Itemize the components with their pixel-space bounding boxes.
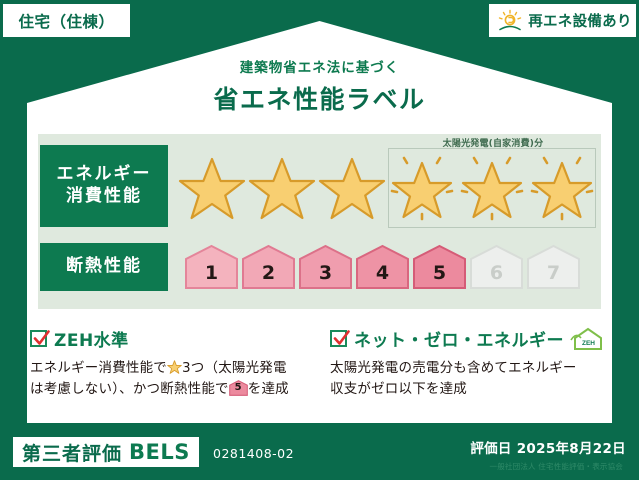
insulation-badge-value: 1 [184, 262, 239, 284]
insulation-badge-value: 6 [469, 262, 524, 284]
checkbox-checked-icon [30, 330, 47, 347]
star-rating [178, 151, 596, 221]
net-zero-criterion-title: ネット・ゼロ・エネルギー [354, 326, 564, 351]
zeh-body-text-d: を達成 [248, 381, 289, 397]
zeh-criterion-header: ZEH水準 [30, 326, 325, 351]
performance-panel: 太陽光発電(自家消費)分 エネルギー 消費性能 [38, 134, 601, 309]
insulation-badge: 3 [298, 244, 353, 290]
title-main: 省エネ性能ラベル [0, 80, 639, 116]
insulation-badge-value: 2 [241, 262, 296, 284]
insulation-badge-inline: 5 [229, 380, 248, 396]
star-icon-inline [167, 359, 182, 374]
energy-label-line-1: エネルギー [57, 164, 152, 186]
issuing-organization: 一般社団法人 住宅性能評価・表示協会 [490, 461, 623, 472]
building-type-tag-label: 住宅（住棟） [18, 10, 114, 32]
renewable-equipment-tag: 再エネ設備あり [489, 4, 636, 37]
label-title: 建築物省エネ法に基づく 省エネ性能ラベル [0, 56, 639, 116]
third-party-label: 第三者評価 [22, 439, 122, 466]
certificate-number: 0281408-02 [213, 446, 294, 461]
label-footer: 第三者評価 BELS 0281408-02 評価日 2025年8月22日 一般社… [0, 424, 639, 480]
zeh-body-text-b: 3つ（太陽光発電 [182, 360, 287, 376]
star-shining-icon [528, 151, 596, 221]
evaluation-date-value: 2025年8月22日 [517, 441, 626, 457]
insulation-badge-inline-value: 5 [229, 380, 248, 396]
insulation-badge-inactive: 6 [469, 244, 524, 290]
sun-icon [497, 9, 523, 33]
energy-consumption-label: エネルギー 消費性能 [40, 145, 168, 227]
bels-third-party-badge: 第三者評価 BELS [13, 437, 199, 467]
energy-label-line-2: 消費性能 [66, 186, 142, 208]
insulation-badge-value: 5 [412, 262, 467, 284]
renewable-tag-label: 再エネ設備あり [528, 10, 632, 31]
title-subtitle: 建築物省エネ法に基づく [0, 56, 639, 76]
star-shining-icon [458, 151, 526, 221]
star-icon [248, 151, 316, 221]
building-type-tag: 住宅（住棟） [3, 4, 130, 37]
star-icon [178, 151, 246, 221]
bels-logo-text: BELS [129, 440, 190, 464]
energy-consumption-row: エネルギー 消費性能 [38, 145, 601, 227]
zeh-body-text-a: エネルギー消費性能で [30, 360, 167, 376]
zeh-criterion-title: ZEH水準 [54, 326, 129, 351]
star-shining-icon [388, 151, 456, 221]
zeh-criterion: ZEH水準 エネルギー消費性能で 3つ（太陽光発電 は考慮しない）、かつ断熱性能… [30, 326, 325, 400]
net-zero-criterion-body: 太陽光発電の売電分も含めてエネルギー 収支がゼロ以下を達成 [330, 358, 630, 400]
insulation-badge-value: 3 [298, 262, 353, 284]
insulation-badge-value: 7 [526, 262, 581, 284]
insulation-label-text: 断熱性能 [66, 256, 142, 278]
insulation-badge-value: 4 [355, 262, 410, 284]
evaluation-date: 評価日 2025年8月22日 [470, 437, 626, 457]
svg-text:ZEH: ZEH [582, 340, 595, 347]
insulation-badge: 2 [241, 244, 296, 290]
insulation-performance-label: 断熱性能 [40, 243, 168, 291]
net-zero-energy-criterion: ネット・ゼロ・エネルギー ZEH 太陽光発電の売電分も含めてエネルギー 収支がゼ… [330, 326, 630, 400]
zeh-criterion-body: エネルギー消費性能で 3つ（太陽光発電 は考慮しない）、かつ断熱性能で 5 を達… [30, 358, 325, 400]
net-zero-body-line-1: 太陽光発電の売電分も含めてエネルギー [330, 360, 577, 376]
net-zero-body-line-2: 収支がゼロ以下を達成 [330, 381, 467, 397]
insulation-badge: 4 [355, 244, 410, 290]
insulation-badge: 5 [412, 244, 467, 290]
zeh-house-logo-icon: ZEH [569, 327, 609, 351]
insulation-performance-row: 断熱性能 1 2 [38, 238, 601, 296]
star-icon [318, 151, 386, 221]
insulation-grade-scale: 1 2 3 4 [184, 244, 581, 290]
insulation-badge-inactive: 7 [526, 244, 581, 290]
evaluation-date-label: 評価日 [470, 441, 511, 457]
checkbox-checked-icon [330, 330, 347, 347]
energy-performance-label: 住宅（住棟） 再エネ設備あり 建築物省エネ法に基づく 省エネ性能ラベル [0, 0, 639, 480]
zeh-body-text-c: は考慮しない）、かつ断熱性能で [30, 381, 229, 397]
insulation-badge: 1 [184, 244, 239, 290]
net-zero-criterion-header: ネット・ゼロ・エネルギー ZEH [330, 326, 630, 351]
